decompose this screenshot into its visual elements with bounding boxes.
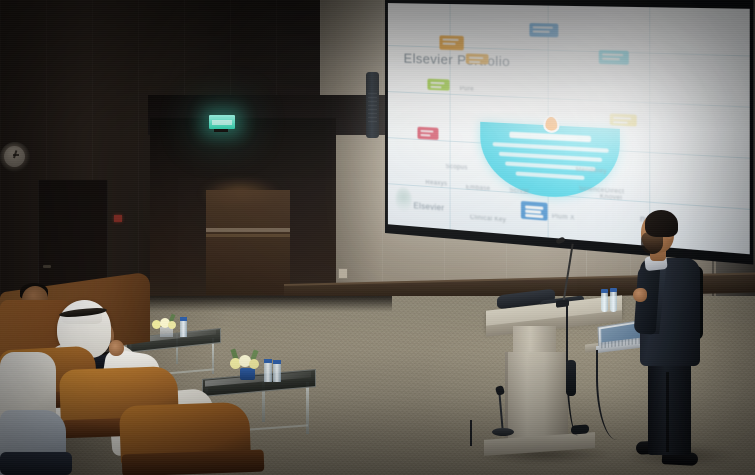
speaker-grille-icon (368, 93, 377, 123)
bottle-cap (273, 360, 281, 364)
clock-minute-hand-icon (13, 154, 19, 156)
cable-plug (571, 424, 589, 434)
water-bottle (264, 362, 272, 382)
slide-gridline (649, 7, 650, 246)
chip-red (417, 127, 438, 140)
bottle-cap (180, 317, 187, 321)
presenter-gesturing-hand (633, 288, 647, 302)
water-bottle (180, 320, 187, 337)
slide-wordmark: Clinical Key (470, 215, 506, 224)
presenter-leg-separation (666, 372, 669, 452)
slide-wordmark: SciVal (509, 188, 528, 196)
wall-power-outlet[interactable] (338, 268, 348, 279)
podium-column (505, 352, 568, 444)
flower-bloom (168, 321, 176, 329)
chip-green (427, 79, 449, 91)
armchair-wood-frame (122, 450, 265, 475)
exit-sign-pictogram-icon (212, 120, 232, 125)
floor-microphone-base (492, 428, 514, 436)
slide-wordmark: Elsevier (414, 201, 445, 212)
slide-wordmark: Knovel (600, 194, 622, 202)
chip-teal-right (599, 50, 629, 65)
presenter-hair (645, 210, 678, 237)
foreground-seat-shadow (0, 452, 72, 475)
alcove-door-rail-shadow (206, 234, 290, 237)
chip-orange-small (466, 53, 489, 64)
flower-bloom (249, 359, 259, 369)
alcove-door[interactable] (206, 190, 290, 295)
projected-slide: Elsevier Portfolio PureScopusMendeleyRea… (388, 3, 750, 254)
slide-wordmark: Plum X (552, 214, 575, 222)
cable-coil (566, 360, 576, 396)
map-pin-icon (543, 115, 559, 134)
water-bottle (601, 292, 608, 312)
alcove-door-rail (206, 228, 290, 232)
chip-yellow (610, 113, 637, 126)
flower-vase (240, 368, 255, 380)
bottle-cap (601, 289, 608, 293)
slide-wordmark: Embase (466, 185, 491, 193)
slide-watermark-logo-icon (396, 187, 412, 212)
conference-room-photo: Elsevier Portfolio PureScopusMendeleyRea… (0, 0, 755, 475)
fire-alarm-plate[interactable] (114, 215, 122, 222)
exit-sign-mount (214, 129, 228, 132)
water-bottle (610, 291, 617, 312)
chip-blue-top (529, 23, 558, 37)
slide-wordmark: Pure (460, 86, 474, 93)
slide-title: Elsevier Portfolio (404, 51, 511, 70)
projection-screen: Elsevier Portfolio PureScopusMendeleyRea… (385, 0, 753, 257)
chip-orange-left (439, 35, 463, 50)
water-bottle (273, 363, 281, 382)
door-handle-icon[interactable] (43, 265, 51, 268)
slide-blue-badge (521, 201, 548, 221)
attendee-thobe-hand (109, 340, 124, 356)
slide-gridline (388, 91, 750, 108)
bottle-cap (264, 359, 272, 363)
bottle-cap (610, 288, 617, 292)
